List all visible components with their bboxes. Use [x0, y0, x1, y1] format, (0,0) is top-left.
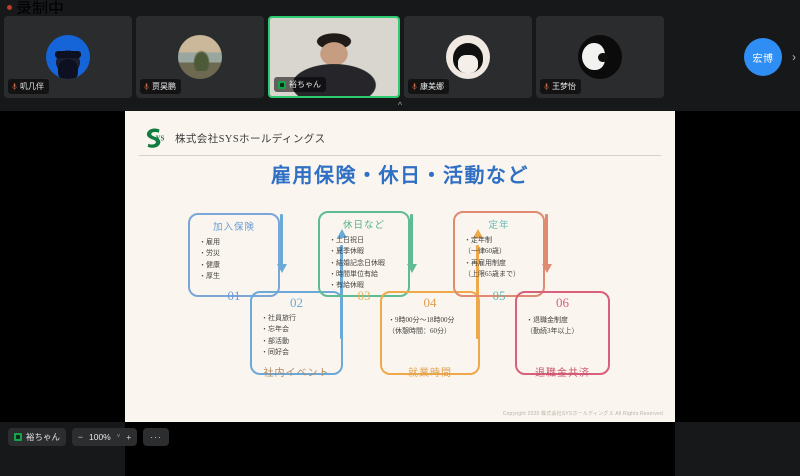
slide-box-03: 休日など ・土日祝日 ・夏季休暇 ・結婚記念日休暇 ・時間単位有給 ・有給休暇 … [318, 211, 410, 297]
participant-tile-5[interactable]: 王梦怡 [536, 16, 664, 98]
participant-filmstrip[interactable]: 叽几伴 贾昊鹏 裕ちゃん [0, 14, 800, 100]
list-item: ・部活動 [261, 336, 335, 347]
participant-label-1: 叽几伴 [8, 79, 49, 94]
participant-tile-1[interactable]: 叽几伴 [4, 16, 132, 98]
mic-icon [544, 83, 549, 91]
chevron-right-icon[interactable]: › [792, 50, 796, 64]
header-divider [139, 155, 661, 156]
mic-icon [12, 83, 17, 91]
list-item: （上限65歳まで） [464, 269, 537, 280]
chevron-down-icon[interactable]: ˅ [117, 434, 121, 440]
list-item: ・土日祝日 [329, 235, 402, 246]
participant-name-5: 王梦怡 [552, 81, 576, 92]
recording-dot-icon [7, 5, 12, 10]
presentation-slide: YS 株式会社SYSホールディングス 雇用保険・休日・活動など 加入保険 ・雇用… [125, 111, 675, 422]
zoom-in-button[interactable]: + [126, 432, 131, 442]
sharer-chip[interactable]: 裕ちゃん [8, 428, 66, 446]
participant-name-1: 叽几伴 [20, 81, 44, 92]
list-item: ・9時00分〜18時00分 [388, 315, 472, 326]
panda-avatar [578, 35, 622, 79]
overflow-avatar-initials: 宏博 [753, 50, 774, 65]
slide-box-02-caption: 社内イベント [252, 364, 341, 379]
participant-tile-2[interactable]: 贾昊鹏 [136, 16, 264, 98]
slide-copyright: Copyright 2025 株式会社SYSホールディングス All Right… [503, 410, 663, 417]
slide-box-05: 定年 ・定年制 （一律60歳） ・再雇用制度 （上限65歳まで） 05 [453, 211, 545, 297]
list-item: ・定年制 [464, 235, 537, 246]
sharer-label: 裕ちゃん [26, 431, 60, 443]
slide-box-05-heading: 定年 [455, 217, 543, 231]
slide-box-01-items: ・雇用 ・労災 ・健康 ・厚生 [199, 237, 272, 282]
anime-avatar [446, 35, 490, 79]
participant-name-2: 贾昊鹏 [152, 81, 176, 92]
meeting-window: 录制中 叽几伴 贾昊鹏 [0, 0, 800, 476]
participant-name-3: 裕ちゃん [289, 79, 321, 90]
svg-text:YS: YS [156, 135, 165, 143]
slide-box-03-heading: 休日など [320, 217, 408, 231]
list-item: （勤続3年以上） [526, 326, 602, 337]
slide-box-01: 加入保険 ・雇用 ・労災 ・健康 ・厚生 01 [188, 213, 280, 297]
slide-header: YS 株式会社SYSホールディングス [141, 125, 326, 151]
company-name: 株式会社SYSホールディングス [175, 131, 326, 146]
slide-box-05-items: ・定年制 （一律60歳） ・再雇用制度 （上限65歳まで） [464, 235, 537, 280]
list-item: ・夏季休暇 [329, 246, 402, 257]
screen-share-icon [14, 433, 22, 441]
list-item: ・厚生 [199, 271, 272, 282]
list-item: ・退職金制度 [526, 315, 602, 326]
participant-name-4: 康美娜 [420, 81, 444, 92]
participant-tile-4[interactable]: 康美娜 [404, 16, 532, 98]
participant-label-5: 王梦怡 [540, 79, 581, 94]
list-item: ・社員旅行 [261, 313, 335, 324]
slide-box-06: 06 ・退職金制度 （勤続3年以上） 退職金共済 [515, 291, 610, 375]
gamer-avatar [46, 35, 90, 79]
mic-icon [412, 83, 417, 91]
list-item: ・雇用 [199, 237, 272, 248]
participant-tile-3-active-speaker[interactable]: 裕ちゃん [268, 16, 400, 98]
slide-box-02-items: ・社員旅行 ・忘年会 ・部活動 ・同好会 [261, 313, 335, 358]
arrow-01-to-02 [276, 214, 288, 276]
overflow-avatar[interactable]: 宏博 [744, 38, 782, 76]
list-item: ・時間単位有給 [329, 269, 402, 280]
slide-box-04-caption: 就業時間 [382, 364, 478, 379]
shared-screen-stage: YS 株式会社SYSホールディングス 雇用保険・休日・活動など 加入保険 ・雇用… [0, 111, 800, 422]
screen-share-icon [278, 81, 286, 89]
chevron-up-icon: ^ [398, 100, 402, 110]
list-item: ・忘年会 [261, 324, 335, 335]
list-item: ・健康 [199, 260, 272, 271]
slide-title: 雇用保険・休日・活動など [125, 159, 675, 188]
sys-logo: YS [141, 125, 167, 151]
list-item: ・同好会 [261, 347, 335, 358]
bottom-toolbar: 裕ちゃん − 100% ˅ + ··· [0, 422, 800, 476]
recording-bar: 录制中 [0, 0, 800, 14]
filmstrip-collapse-button[interactable]: ^ [0, 99, 800, 111]
participant-label-2: 贾昊鹏 [140, 79, 181, 94]
list-item: （休憩時間：60分） [388, 326, 472, 337]
participant-label-4: 康美娜 [408, 79, 449, 94]
zoom-out-button[interactable]: − [78, 432, 83, 442]
list-item: （一律60歳） [464, 246, 537, 257]
arrow-03-to-04 [406, 214, 418, 276]
slide-box-04-items: ・9時00分〜18時00分 （休憩時間：60分） [388, 315, 472, 338]
list-item: ・労災 [199, 248, 272, 259]
arrow-05-to-06 [541, 214, 553, 276]
more-options-button[interactable]: ··· [143, 428, 169, 446]
slide-box-03-items: ・土日祝日 ・夏季休暇 ・結婚記念日休暇 ・時間単位有給 ・有給休暇 [329, 235, 402, 292]
list-item: ・再雇用制度 [464, 258, 537, 269]
list-item: ・結婚記念日休暇 [329, 258, 402, 269]
zoom-stepper[interactable]: − 100% ˅ + [72, 428, 137, 446]
participant-label-3: 裕ちゃん [274, 77, 326, 92]
landscape-avatar [178, 35, 222, 79]
slide-box-01-heading: 加入保険 [190, 219, 278, 233]
slide-box-06-items: ・退職金制度 （勤続3年以上） [526, 315, 602, 338]
stage-letterbox [125, 422, 675, 476]
mic-icon [144, 83, 149, 91]
slide-box-06-number: 06 [517, 295, 608, 311]
zoom-level-value: 100% [89, 432, 111, 442]
slide-box-06-caption: 退職金共済 [517, 364, 608, 379]
